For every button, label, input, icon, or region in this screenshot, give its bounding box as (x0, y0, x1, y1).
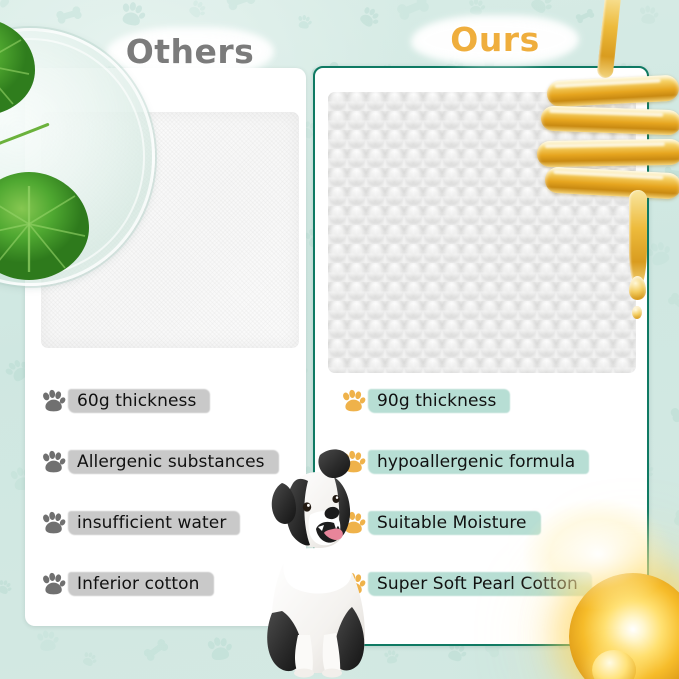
bone-pattern-icon (225, 0, 257, 12)
paw-icon (40, 389, 66, 413)
others-title-block: Others (110, 26, 270, 78)
bone-pattern-icon (574, 8, 595, 25)
paw-icon (340, 511, 366, 535)
comparison-infographic: Others Ours 60g thickness (0, 0, 679, 679)
paw-pattern-icon (613, 646, 643, 675)
list-item: Inferior cotton (40, 565, 310, 603)
paw-pattern-icon (34, 629, 60, 653)
ours-title: Ours (420, 14, 570, 66)
others-feature-list: 60g thickness Allergenic substances (40, 382, 310, 626)
paw-icon (340, 450, 366, 474)
bone-pattern-icon (662, 641, 679, 661)
others-title: Others (110, 26, 270, 78)
list-item-label: Suitable Moisture (371, 511, 534, 536)
paw-pattern-icon (0, 121, 18, 142)
others-cotton-pad-image (41, 112, 299, 348)
list-item-label: Allergenic substances (71, 450, 272, 475)
list-item: Suitable Moisture (340, 504, 640, 542)
paw-pattern-icon (0, 577, 14, 597)
paw-icon (40, 450, 66, 474)
paw-pattern-icon (79, 649, 100, 669)
bone-pattern-icon (663, 166, 679, 180)
list-item: 90g thickness (340, 382, 640, 420)
list-item: insufficient water (40, 504, 310, 542)
paw-pattern-icon (0, 0, 13, 12)
list-item-label: 60g thickness (71, 389, 203, 414)
list-item-label: hypoallergenic formula (371, 450, 582, 475)
paw-icon (40, 511, 66, 535)
list-item: Super Soft Pearl Cotton (340, 565, 640, 603)
ours-title-block: Ours (420, 14, 570, 66)
bone-pattern-icon (666, 291, 679, 317)
bone-pattern-icon (673, 508, 679, 532)
list-item-label: insufficient water (71, 511, 233, 536)
list-item: hypoallergenic formula (340, 443, 640, 481)
paw-pattern-icon (354, 2, 384, 31)
paw-pattern-icon (204, 635, 234, 664)
paw-icon (340, 389, 366, 413)
paw-icon (340, 572, 366, 596)
paw-icon (40, 572, 66, 596)
bone-pattern-icon (669, 400, 679, 424)
ours-feature-list: 90g thickness hypoallergenic formula (340, 382, 640, 626)
bone-pattern-icon (142, 637, 170, 663)
bone-pattern-icon (55, 5, 83, 25)
paw-pattern-icon (272, 632, 296, 655)
paw-pattern-icon (382, 648, 400, 665)
list-item-label: Inferior cotton (71, 572, 207, 597)
paw-pattern-icon (295, 13, 313, 30)
list-item: Allergenic substances (40, 443, 310, 481)
ours-cotton-pad-image (328, 92, 636, 373)
paw-pattern-icon (0, 227, 26, 253)
paw-pattern-icon (636, 4, 659, 26)
list-item: 60g thickness (40, 382, 310, 420)
paw-pattern-icon (184, 0, 210, 22)
list-item-label: Super Soft Pearl Cotton (371, 572, 585, 597)
list-item-label: 90g thickness (371, 389, 503, 414)
